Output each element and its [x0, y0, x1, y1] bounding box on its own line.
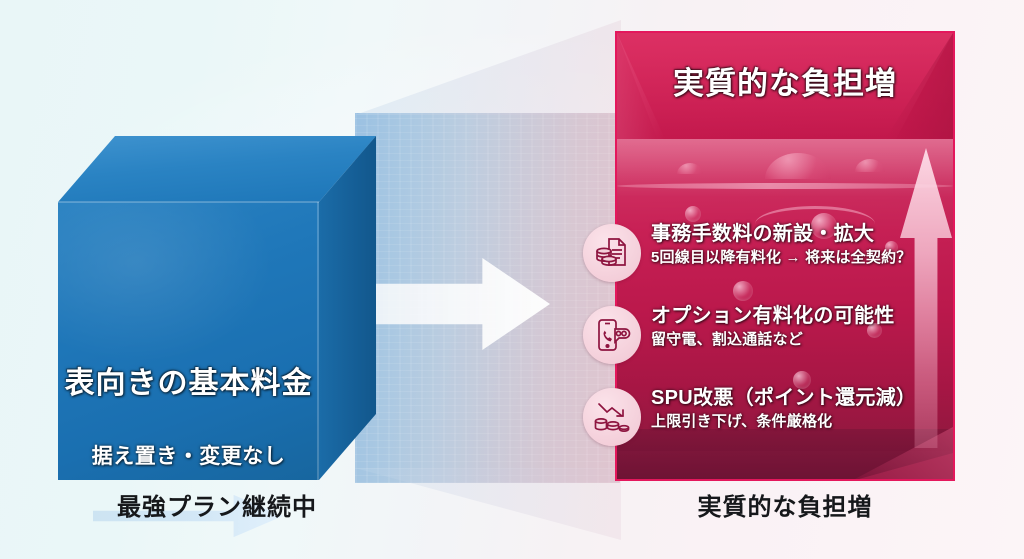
phone-voicemail-icon [583, 306, 641, 364]
feature-item: オプション有料化の可能性 留守電、割込通話など [583, 304, 963, 386]
left-cube-subtitle: 据え置き・変更なし [58, 440, 319, 470]
infographic-canvas: 表向きの基本料金 据え置き・変更なし 最強プラン継続中 実質的な負担増 [0, 0, 1024, 559]
feature-text: オプション有料化の可能性 留守電、割込通話など [651, 304, 963, 350]
feature-subtitle: 5回線目以降有料化 → 将来は全契約？ [651, 249, 963, 268]
burden-feature-list: 事務手数料の新設・拡大 5回線目以降有料化 → 将来は全契約？ オプション有料化… [583, 222, 963, 468]
feature-title: オプション有料化の可能性 [651, 304, 963, 329]
feature-text: 事務手数料の新設・拡大 5回線目以降有料化 → 将来は全契約？ [651, 222, 963, 268]
feature-title: SPU改悪（ポイント還元減） [651, 386, 963, 411]
feature-subtitle: 上限引き下げ、条件厳格化 [651, 413, 963, 432]
feature-title: 事務手数料の新設・拡大 [651, 222, 963, 247]
left-caption: 最強プラン継続中 [58, 487, 376, 522]
left-cube-front-face [58, 202, 319, 480]
left-cube: 表向きの基本料金 据え置き・変更なし [58, 136, 376, 480]
bubble [685, 206, 701, 222]
right-caption: 実質的な負担増 [615, 487, 955, 522]
feature-text: SPU改悪（ポイント還元減） 上限引き下げ、条件厳格化 [651, 386, 963, 432]
left-cube-edge-vertical [317, 202, 319, 480]
feature-item: 事務手数料の新設・拡大 5回線目以降有料化 → 将来は全契約？ [583, 222, 963, 304]
feature-item: SPU改悪（ポイント還元減） 上限引き下げ、条件厳格化 [583, 386, 963, 468]
document-coins-icon [583, 224, 641, 282]
left-cube-title: 表向きの基本料金 [58, 358, 319, 402]
liquid-surface-line [617, 183, 953, 189]
right-cube-title: 実質的な負担増 [615, 58, 955, 103]
left-cube-edge-horizontal [58, 201, 319, 203]
declining-coins-icon [583, 388, 641, 446]
feature-subtitle: 留守電、割込通話など [651, 331, 963, 350]
